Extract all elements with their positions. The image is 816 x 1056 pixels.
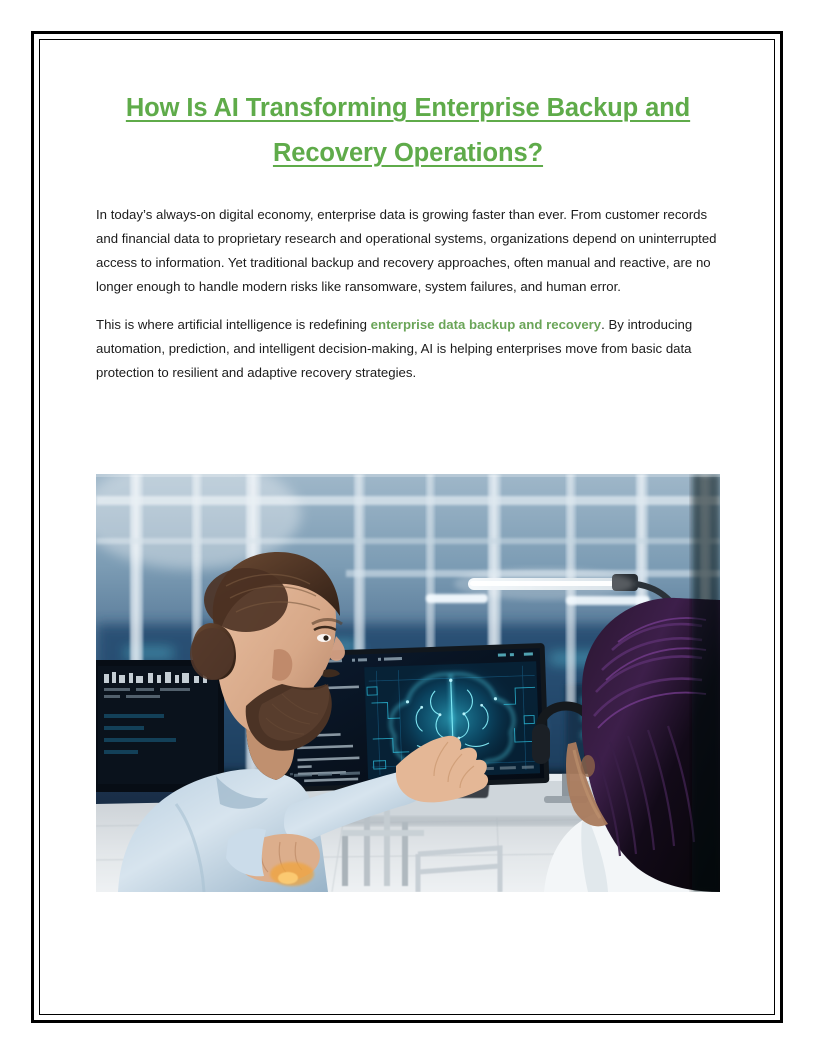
document-content: How Is AI Transforming Enterprise Backup… — [96, 86, 720, 385]
paragraph-intro: In today’s always-on digital economy, en… — [96, 203, 720, 299]
inline-link-enterprise-data-backup-and-recovery[interactable]: enterprise data backup and recovery — [371, 317, 602, 332]
paragraph-ai-redefining: This is where artificial intelligence is… — [96, 313, 720, 385]
paragraph-text-before-link: This is where artificial intelligence is… — [96, 317, 371, 332]
photo-canvas — [96, 474, 720, 892]
page-title: How Is AI Transforming Enterprise Backup… — [96, 86, 720, 175]
article-photo — [96, 474, 720, 892]
paragraph-intro-text: In today’s always-on digital economy, en… — [96, 207, 717, 294]
document-page: How Is AI Transforming Enterprise Backup… — [0, 0, 816, 1056]
